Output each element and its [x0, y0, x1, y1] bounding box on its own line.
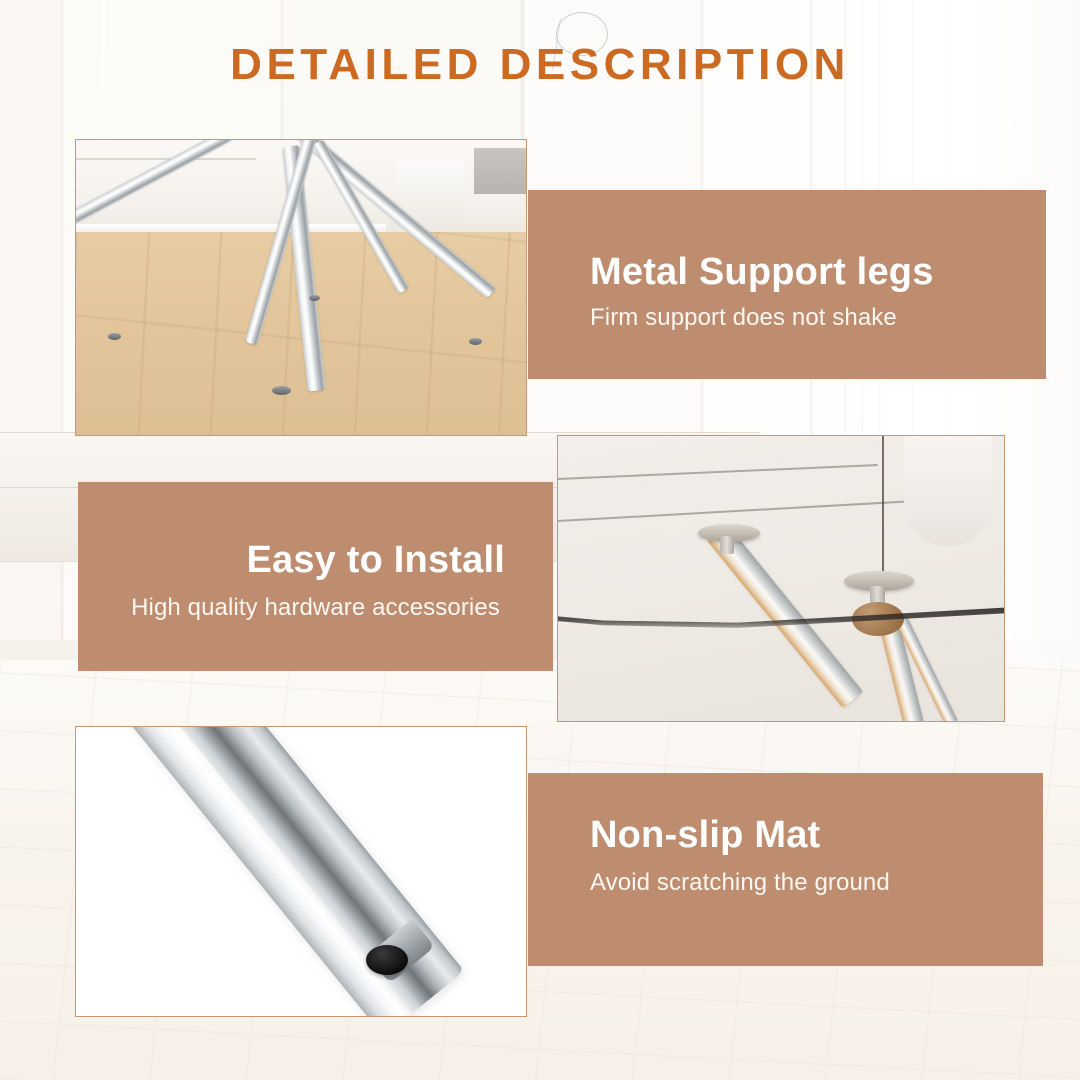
photo1-foot-mid — [309, 295, 320, 301]
photo2-wire — [882, 436, 884, 586]
photo1-grey-block — [474, 148, 527, 194]
photo1-foot-center — [272, 386, 291, 395]
feature-photo-metal-support-legs — [75, 139, 527, 436]
feature-subtext: High quality hardware accessories — [78, 594, 553, 622]
feature-subtext: Firm support does not shake — [590, 304, 897, 332]
feature-photo-non-slip-mat — [75, 726, 527, 1017]
feature-headline: Easy to Install — [246, 540, 505, 582]
feature-panel-non-slip-mat: Non-slip Mat Avoid scratching the ground — [528, 773, 1043, 966]
feature-headline: Non-slip Mat — [590, 815, 820, 857]
photo2-lamp — [904, 436, 992, 546]
page-title: DETAILED DESCRIPTION — [0, 40, 1080, 90]
photo2-glass-top — [558, 606, 1005, 632]
photo1-foot-left — [108, 333, 121, 340]
feature-headline: Metal Support legs — [590, 252, 934, 294]
feature-panel-easy-to-install: Easy to Install High quality hardware ac… — [78, 482, 553, 671]
infographic-stage: DETAILED DESCRIPTION Metal Support legs … — [0, 0, 1080, 1080]
feature-subtext: Avoid scratching the ground — [590, 869, 890, 897]
feature-photo-easy-to-install — [557, 435, 1005, 722]
photo1-foot-right — [469, 338, 482, 345]
photo2-mount-post-left — [720, 536, 734, 554]
photo3-non-slip-pad — [366, 945, 408, 975]
photo2-glass-edge — [558, 606, 1005, 632]
photo1-cabinet-line — [76, 158, 256, 160]
feature-panel-metal-support-legs: Metal Support legs Firm support does not… — [528, 190, 1046, 379]
